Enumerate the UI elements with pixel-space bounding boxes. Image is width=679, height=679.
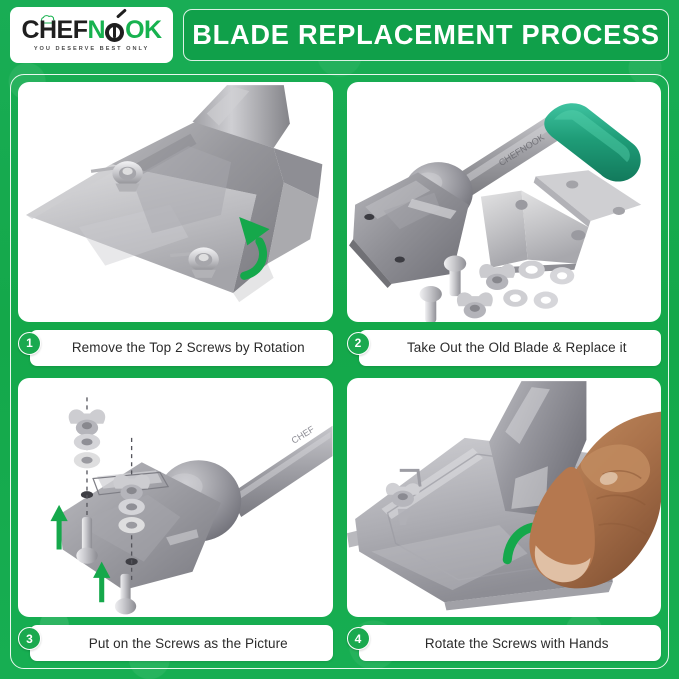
step-4-image (347, 378, 662, 618)
step-3-caption-row: Put on the Screws as the Picture 3 (18, 625, 333, 661)
step-3: CHEF (18, 378, 333, 662)
step-3-image: CHEF (18, 378, 333, 618)
step-2-number-badge: 2 (347, 332, 370, 355)
step-1-image (18, 82, 333, 322)
steps-grid: Remove the Top 2 Screws by Rotation 1 (18, 82, 661, 661)
step-2-image: CHEFNOOK (347, 82, 662, 322)
scraper-head-rotation-illustration (18, 82, 333, 322)
brand-logo: CHEFNOK YOU DESERVE BEST ONLY (10, 7, 173, 63)
step-2: CHEFNOOK (347, 82, 662, 366)
bolt-2 (419, 286, 441, 322)
logo-text-n: N (88, 18, 106, 43)
step-1: Remove the Top 2 Screws by Rotation 1 (18, 82, 333, 366)
step-4: Rotate the Screws with Hands 4 (347, 378, 662, 662)
washer-left-1 (74, 433, 100, 449)
washer-left-2 (74, 452, 100, 468)
title-bar: BLADE REPLACEMENT PROCESS (183, 9, 669, 61)
bolt-1 (443, 256, 465, 297)
frying-pan-icon (104, 20, 126, 42)
step-3-caption-pill: Put on the Screws as the Picture (30, 625, 333, 661)
step-1-caption-pill: Remove the Top 2 Screws by Rotation (30, 330, 333, 366)
washer-2 (503, 290, 527, 307)
logo-wordmark: CHEFNOK (21, 18, 161, 43)
logo-text-chef: CHEF (21, 18, 87, 43)
washer-right-2 (118, 517, 144, 533)
step-2-caption-row: Take Out the Old Blade & Replace it 2 (347, 330, 662, 366)
hand-rotating-screw-illustration (347, 378, 662, 618)
page-title: BLADE REPLACEMENT PROCESS (192, 21, 660, 49)
step-2-caption-pill: Take Out the Old Blade & Replace it (359, 330, 662, 366)
step-2-caption-text: Take Out the Old Blade & Replace it (407, 340, 627, 355)
step-3-caption-text: Put on the Screws as the Picture (89, 636, 288, 651)
poster-header: CHEFNOK YOU DESERVE BEST ONLY BLADE REPL… (0, 0, 679, 70)
washer-3 (549, 267, 573, 284)
logo-text-ok: OK (125, 18, 162, 43)
wing-nut-1 (479, 264, 515, 290)
wing-nut-left (69, 409, 106, 435)
infographic-poster: CHEFNOK YOU DESERVE BEST ONLY BLADE REPL… (0, 0, 679, 679)
step-4-number-badge: 4 (347, 627, 370, 650)
logo-tagline: YOU DESERVE BEST ONLY (34, 46, 149, 52)
step-3-number-badge: 3 (18, 627, 41, 650)
step-1-caption-row: Remove the Top 2 Screws by Rotation 1 (18, 330, 333, 366)
washer-right-1 (118, 498, 144, 514)
washer-1 (518, 261, 544, 279)
step-1-number-badge: 1 (18, 332, 41, 355)
step-1-caption-text: Remove the Top 2 Screws by Rotation (72, 340, 305, 355)
step-4-caption-row: Rotate the Screws with Hands 4 (347, 625, 662, 661)
washer-4 (533, 292, 557, 309)
step-4-caption-text: Rotate the Screws with Hands (425, 636, 609, 651)
tool-and-parts-illustration: CHEFNOOK (347, 82, 662, 322)
exploded-assembly-illustration: CHEF (18, 378, 333, 618)
step-4-caption-pill: Rotate the Screws with Hands (359, 625, 662, 661)
wing-nut-2 (456, 292, 492, 318)
